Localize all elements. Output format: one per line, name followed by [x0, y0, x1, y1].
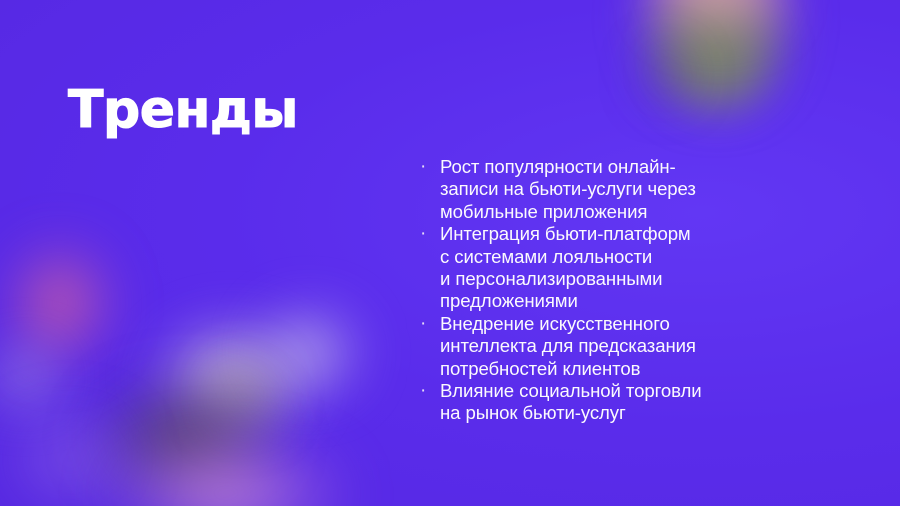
list-item: · Рост популярности онлайн- записи на бь…	[420, 156, 740, 223]
bullet-text: Влияние социальной торговли на рынок бью…	[440, 380, 740, 425]
bullet-dot-icon: ·	[420, 313, 440, 335]
bullet-text: Внедрение искусственного интеллекта для …	[440, 313, 740, 380]
bullet-dot-icon: ·	[420, 380, 440, 402]
list-item: · Внедрение искусственного интеллекта дл…	[420, 313, 740, 380]
list-item: · Интеграция бьюти-платформ с системами …	[420, 223, 740, 313]
bullet-text: Интеграция бьюти-платформ с системами ло…	[440, 223, 740, 313]
slide-title: Тренды	[68, 84, 298, 136]
bullet-dot-icon: ·	[420, 223, 440, 245]
bullet-list: · Рост популярности онлайн- записи на бь…	[420, 156, 740, 425]
bullet-dot-icon: ·	[420, 156, 440, 178]
presentation-slide: Тренды · Рост популярности онлайн- запис…	[0, 0, 900, 506]
list-item: · Влияние социальной торговли на рынок б…	[420, 380, 740, 425]
bullet-text: Рост популярности онлайн- записи на бьют…	[440, 156, 740, 223]
